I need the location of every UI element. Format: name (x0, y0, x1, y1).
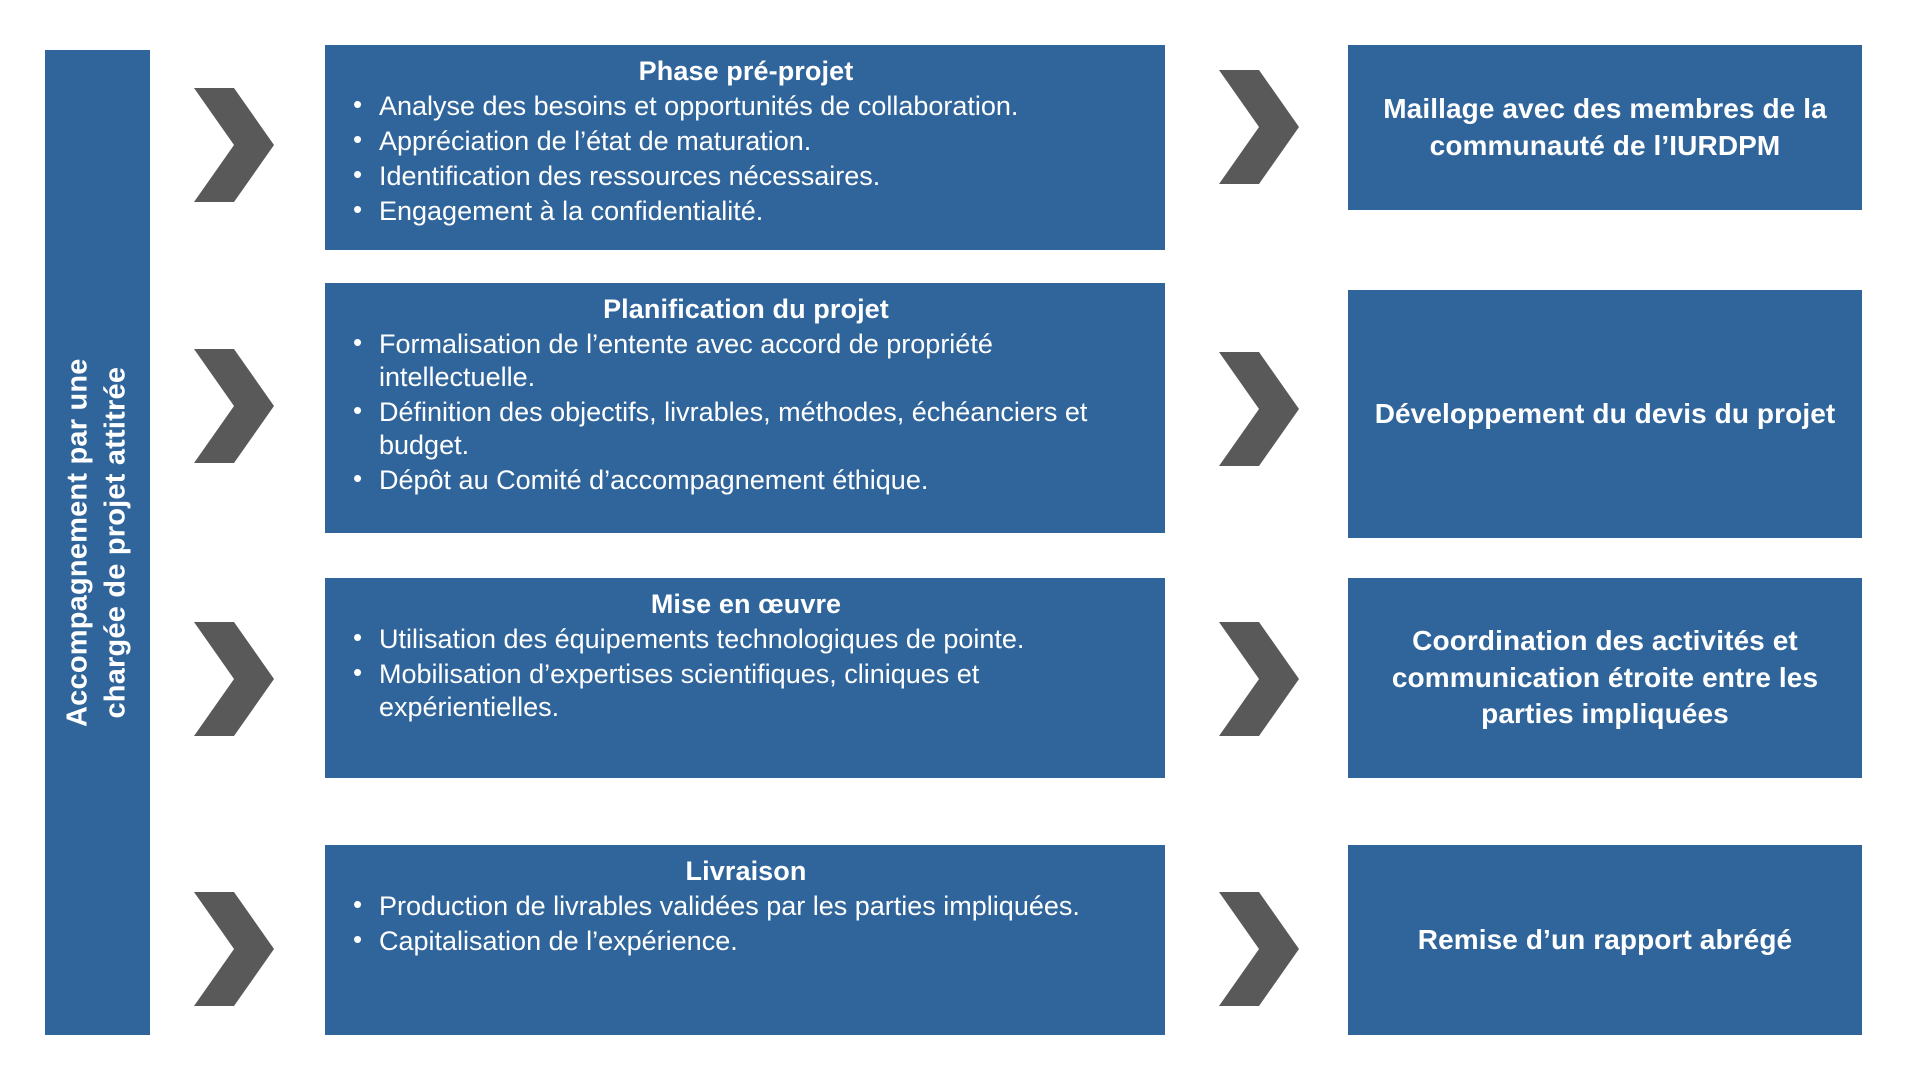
phase-bullet: Définition des objectifs, livrables, mét… (345, 396, 1147, 462)
phase-box-delivery: Livraison Production de livrables validé… (325, 845, 1165, 1035)
phase-bullet: Utilisation des équipements technologiqu… (345, 623, 1147, 656)
phase-bullet: Analyse des besoins et opportunités de c… (345, 90, 1147, 123)
outcome-box-coordination: Coordination des activités et communicat… (1348, 578, 1862, 778)
phase-bullet-list: Production de livrables validées par les… (345, 890, 1147, 958)
phase-box-pre-project: Phase pré-projet Analyse des besoins et … (325, 45, 1165, 250)
chevron-right-icon (1215, 620, 1303, 738)
phase-bullet: Capitalisation de l’expérience. (345, 925, 1147, 958)
side-band-label: Accompagnement par une chargée de projet… (60, 358, 135, 727)
chevron-right-icon (190, 347, 278, 465)
phase-title: Livraison (345, 855, 1147, 888)
chevron-right-icon (1215, 350, 1303, 468)
chevron-right-icon (1215, 68, 1303, 186)
phase-bullet: Identification des ressources nécessaire… (345, 160, 1147, 193)
phase-bullet: Formalisation de l’entente avec accord d… (345, 328, 1147, 394)
phase-title: Phase pré-projet (345, 55, 1147, 88)
outcome-box-quote-development: Développement du devis du projet (1348, 290, 1862, 538)
phase-bullet: Mobilisation d’expertises scientifiques,… (345, 658, 1147, 724)
diagram-canvas: Accompagnement par une chargée de projet… (0, 0, 1920, 1080)
phase-bullet-list: Analyse des besoins et opportunités de c… (345, 90, 1147, 228)
side-band-line-2: chargée de projet attitrée (98, 358, 136, 727)
phase-bullet: Appréciation de l’état de maturation. (345, 125, 1147, 158)
phase-bullet-list: Formalisation de l’entente avec accord d… (345, 328, 1147, 497)
outcome-label: Développement du devis du projet (1375, 396, 1836, 432)
side-band-line-1: Accompagnement par une (60, 358, 98, 727)
phase-bullet: Engagement à la confidentialité. (345, 195, 1147, 228)
outcome-box-final-report: Remise d’un rapport abrégé (1348, 845, 1862, 1035)
chevron-right-icon (190, 86, 278, 204)
outcome-label: Maillage avec des membres de la communau… (1372, 91, 1838, 164)
phase-title: Mise en œuvre (345, 588, 1147, 621)
side-band-accompaniment: Accompagnement par une chargée de projet… (45, 50, 150, 1035)
outcome-label: Remise d’un rapport abrégé (1418, 922, 1792, 958)
chevron-right-icon (190, 620, 278, 738)
phase-box-implementation: Mise en œuvre Utilisation des équipement… (325, 578, 1165, 778)
phase-bullet: Dépôt au Comité d’accompagnement éthique… (345, 464, 1147, 497)
phase-box-planning: Planification du projet Formalisation de… (325, 283, 1165, 533)
outcome-box-networking: Maillage avec des membres de la communau… (1348, 45, 1862, 210)
chevron-right-icon (190, 890, 278, 1008)
phase-bullet-list: Utilisation des équipements technologiqu… (345, 623, 1147, 724)
phase-title: Planification du projet (345, 293, 1147, 326)
phase-bullet: Production de livrables validées par les… (345, 890, 1147, 923)
chevron-right-icon (1215, 890, 1303, 1008)
outcome-label: Coordination des activités et communicat… (1372, 623, 1838, 732)
